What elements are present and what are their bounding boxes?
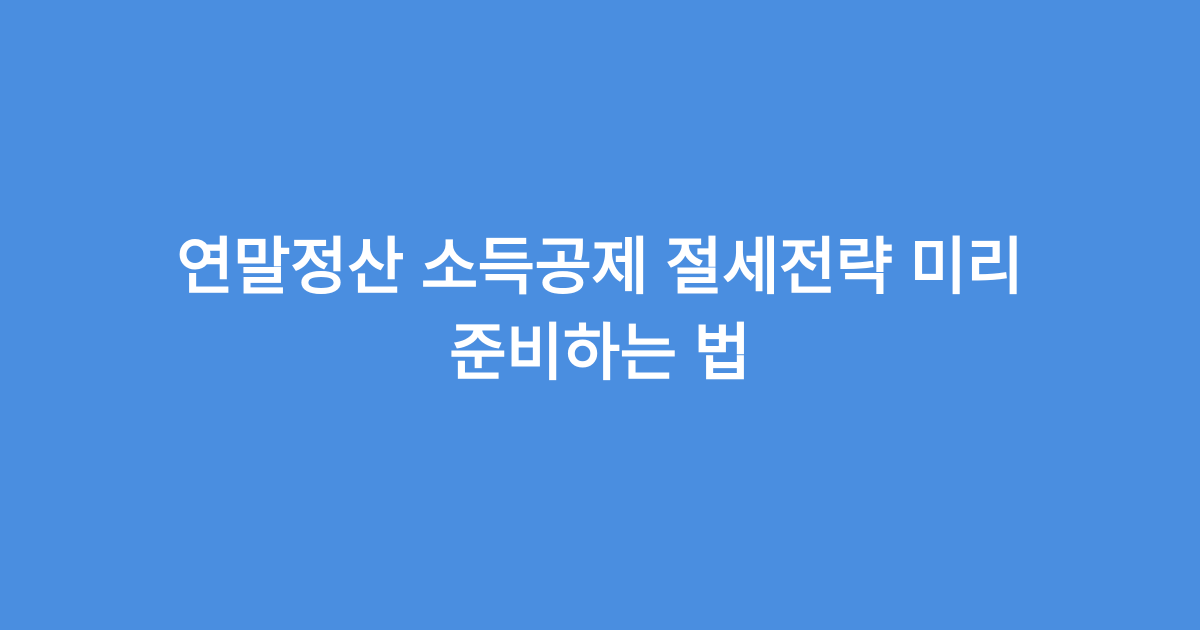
page-title: 연말정산 소득공제 절세전략 미리 준비하는 법 xyxy=(132,225,1068,396)
og-image-card: 연말정산 소득공제 절세전략 미리 준비하는 법 xyxy=(0,0,1200,630)
title-container: 연말정산 소득공제 절세전략 미리 준비하는 법 xyxy=(132,225,1068,396)
